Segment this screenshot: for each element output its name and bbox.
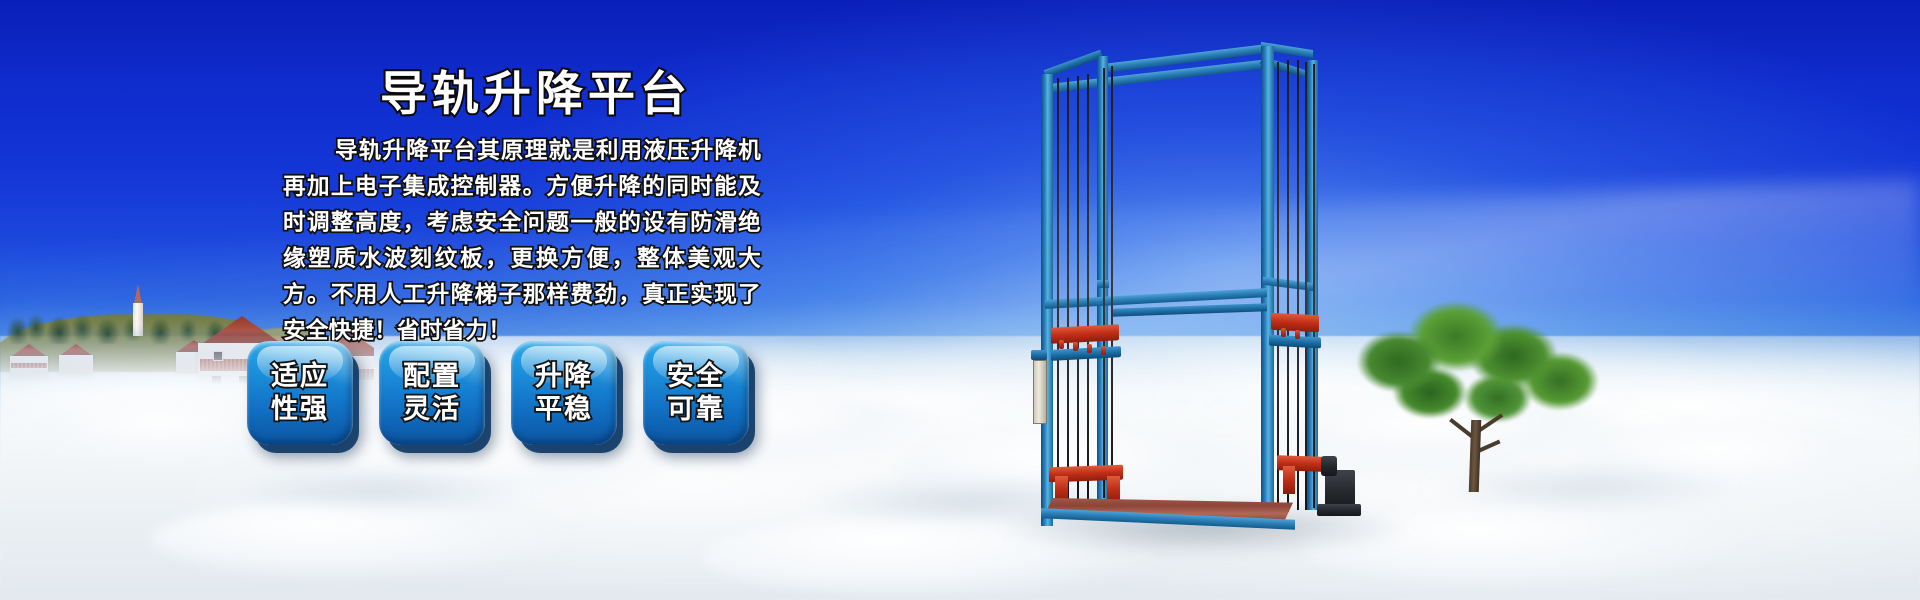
church-steeple (130, 284, 146, 336)
lift-chain (1287, 60, 1289, 512)
sprocket-nub (1087, 344, 1092, 353)
feature-badge-smooth-lifting[interactable]: 升降 平稳 (511, 341, 617, 445)
cylinder-leg-right (1283, 466, 1295, 494)
lift-chain (1103, 68, 1105, 498)
badge-line-2: 可靠 (667, 394, 725, 425)
badge-line-1: 适应 (271, 361, 329, 392)
chalet-house (6, 344, 52, 378)
chalet-house (56, 344, 96, 374)
badge-line-1: 安全 (667, 361, 725, 392)
sprocket-nub (1101, 346, 1106, 355)
badge-line-1: 升降 (535, 361, 593, 392)
feature-badge-row: 适应 性强 配置 灵活 升降 平稳 安全 可靠 (247, 341, 749, 445)
badge-label: 安全 可靠 (667, 360, 725, 426)
guide-rail-lift-platform (1015, 18, 1375, 566)
lift-chain (1087, 74, 1089, 502)
description-paragraph: 导轨升降平台其原理就是利用液压升降机再加上电子集成控制器。方便升降的同时能及时调… (283, 133, 761, 349)
badge-label: 升降 平稳 (535, 360, 593, 426)
feature-badge-safety[interactable]: 安全 可靠 (643, 341, 749, 445)
control-panel-cap (1031, 350, 1047, 360)
badge-line-2: 性强 (271, 394, 329, 425)
chalet-wall (59, 355, 93, 374)
lift-chain (1111, 66, 1113, 498)
product-banner: 导轨升降平台 导轨升降平台其原理就是利用液压升降机再加上电子集成控制器。方便升降… (0, 0, 1920, 600)
tree-trunk (1469, 420, 1482, 492)
badge-line-2: 灵活 (403, 394, 461, 425)
badge-line-1: 配置 (403, 361, 461, 392)
frame-mid-rear-beam (1111, 303, 1267, 316)
chalet-window (213, 351, 223, 361)
badge-label: 配置 灵活 (403, 360, 461, 426)
cylinder-leg-left (1107, 476, 1120, 502)
chalet-window (211, 375, 222, 387)
power-unit-base (1317, 504, 1361, 516)
sprocket-nub (1073, 342, 1078, 351)
lift-chain (1305, 62, 1307, 510)
feature-badge-configuration[interactable]: 配置 灵活 (379, 341, 485, 445)
lift-chain (1277, 62, 1279, 514)
lift-chain (1297, 60, 1299, 510)
lift-chain (1077, 76, 1079, 502)
sprocket-nub (1295, 330, 1300, 339)
badge-label: 适应 性强 (271, 360, 329, 426)
badge-line-2: 平稳 (535, 394, 593, 425)
steeple-spire (134, 284, 142, 304)
sprocket-nub (1059, 340, 1064, 349)
lift-chain (1067, 78, 1069, 502)
sprocket-nub (1281, 328, 1286, 337)
lift-chain (1057, 78, 1059, 498)
tree-canopy (1352, 300, 1612, 440)
green-tree (1352, 300, 1612, 500)
motor-housing (1321, 456, 1337, 476)
lift-chain (1313, 64, 1315, 508)
feature-badge-adaptability[interactable]: 适应 性强 (247, 341, 353, 445)
control-panel (1033, 360, 1047, 424)
page-title: 导轨升降平台 (380, 55, 692, 124)
steeple-tower (133, 303, 143, 336)
chalet-balcony (11, 363, 48, 368)
